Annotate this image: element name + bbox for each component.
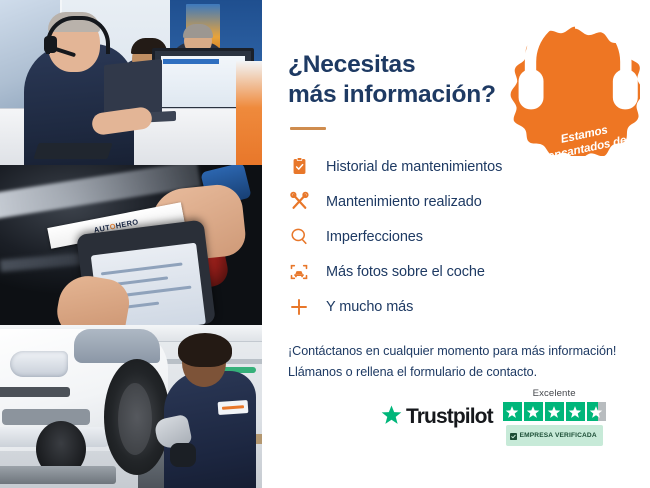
list-item-label: Y mucho más [326,299,413,315]
monitor-screen-bar [163,59,219,64]
list-item: Más fotos sobre el coche [288,256,626,288]
list-item: Y mucho más [288,291,626,323]
contact-line-2: Llámanos o rellena el formulario de cont… [288,362,626,384]
car-inspection-ruler-photo: AUTOHERO [0,165,262,325]
car-scan-icon [288,261,310,283]
status-badge: EMPRESA VERIFICADA [506,425,603,446]
plus-icon [288,296,310,318]
trustpilot-star-icon [380,404,403,431]
title-divider [290,127,326,130]
car-grille-upper [0,387,70,397]
star-rating [503,402,606,421]
list-item-label: Imperfecciones [326,229,423,245]
call-centre-advisors-photo [0,0,262,165]
car-windshield [74,329,160,363]
contact-paragraph: ¡Contáctanos en cualquier momento para m… [288,341,626,384]
wheel-rim [118,383,152,455]
tablet-line [101,262,183,275]
trustpilot-wordmark: Trustpilot [406,405,493,429]
rating-star [545,402,564,421]
list-item-label: Más fotos sobre el coche [326,264,485,280]
customer-support-badge: Estamos encantados de darte más informac… [510,26,640,156]
magnifier-icon [288,226,310,248]
car-headlight [10,351,68,377]
content-panel: Estamos encantados de darte más informac… [262,0,650,488]
maintenance-history-icon [288,156,310,178]
page-title-line-2: más información? [288,81,496,108]
list-item: Imperfecciones [288,221,626,253]
mechanic-wheel-inspection-photo [0,325,262,488]
list-item-label: Mantenimiento realizado [326,194,482,210]
autohero-more-information-banner: AUTOHERO [0,0,650,488]
page-title-line-1: ¿Necesitas [288,51,415,78]
trustpilot-widget[interactable]: Trustpilot Excelente [380,388,606,446]
contact-line-1: ¡Contáctanos en cualquier momento para m… [288,341,626,363]
orange-equipment-edge [236,61,262,165]
wrench-screwdriver-icon [288,191,310,213]
list-item: Mantenimiento realizado [288,186,626,218]
mechanic-glove-cuff [170,443,196,467]
rating-star [503,402,522,421]
car-grille-lower [2,409,90,425]
feature-list: Historial de mantenimientos Mantenimient… [288,151,626,323]
mechanic-hair [178,333,232,367]
mechanic-uniform-logo [218,400,249,415]
rating-star-partial [587,402,606,421]
verified-check-icon [510,427,517,445]
trustpilot-logo[interactable]: Trustpilot [380,404,493,431]
page-title: ¿Necesitas más información? [288,0,518,111]
rating-star [524,402,543,421]
background-person-3-hair [183,24,213,38]
list-item-label: Historial de mantenimientos [326,159,502,175]
rating-label: Excelente [533,388,576,399]
verified-label: EMPRESA VERIFICADA [520,432,597,439]
vehicle-lift-arm [0,466,116,484]
starburst-shape-icon [510,26,640,156]
desk-tablet [33,143,112,159]
trustpilot-rating: Excelente [503,388,606,446]
rating-star [566,402,585,421]
photo-column: AUTOHERO [0,0,262,488]
